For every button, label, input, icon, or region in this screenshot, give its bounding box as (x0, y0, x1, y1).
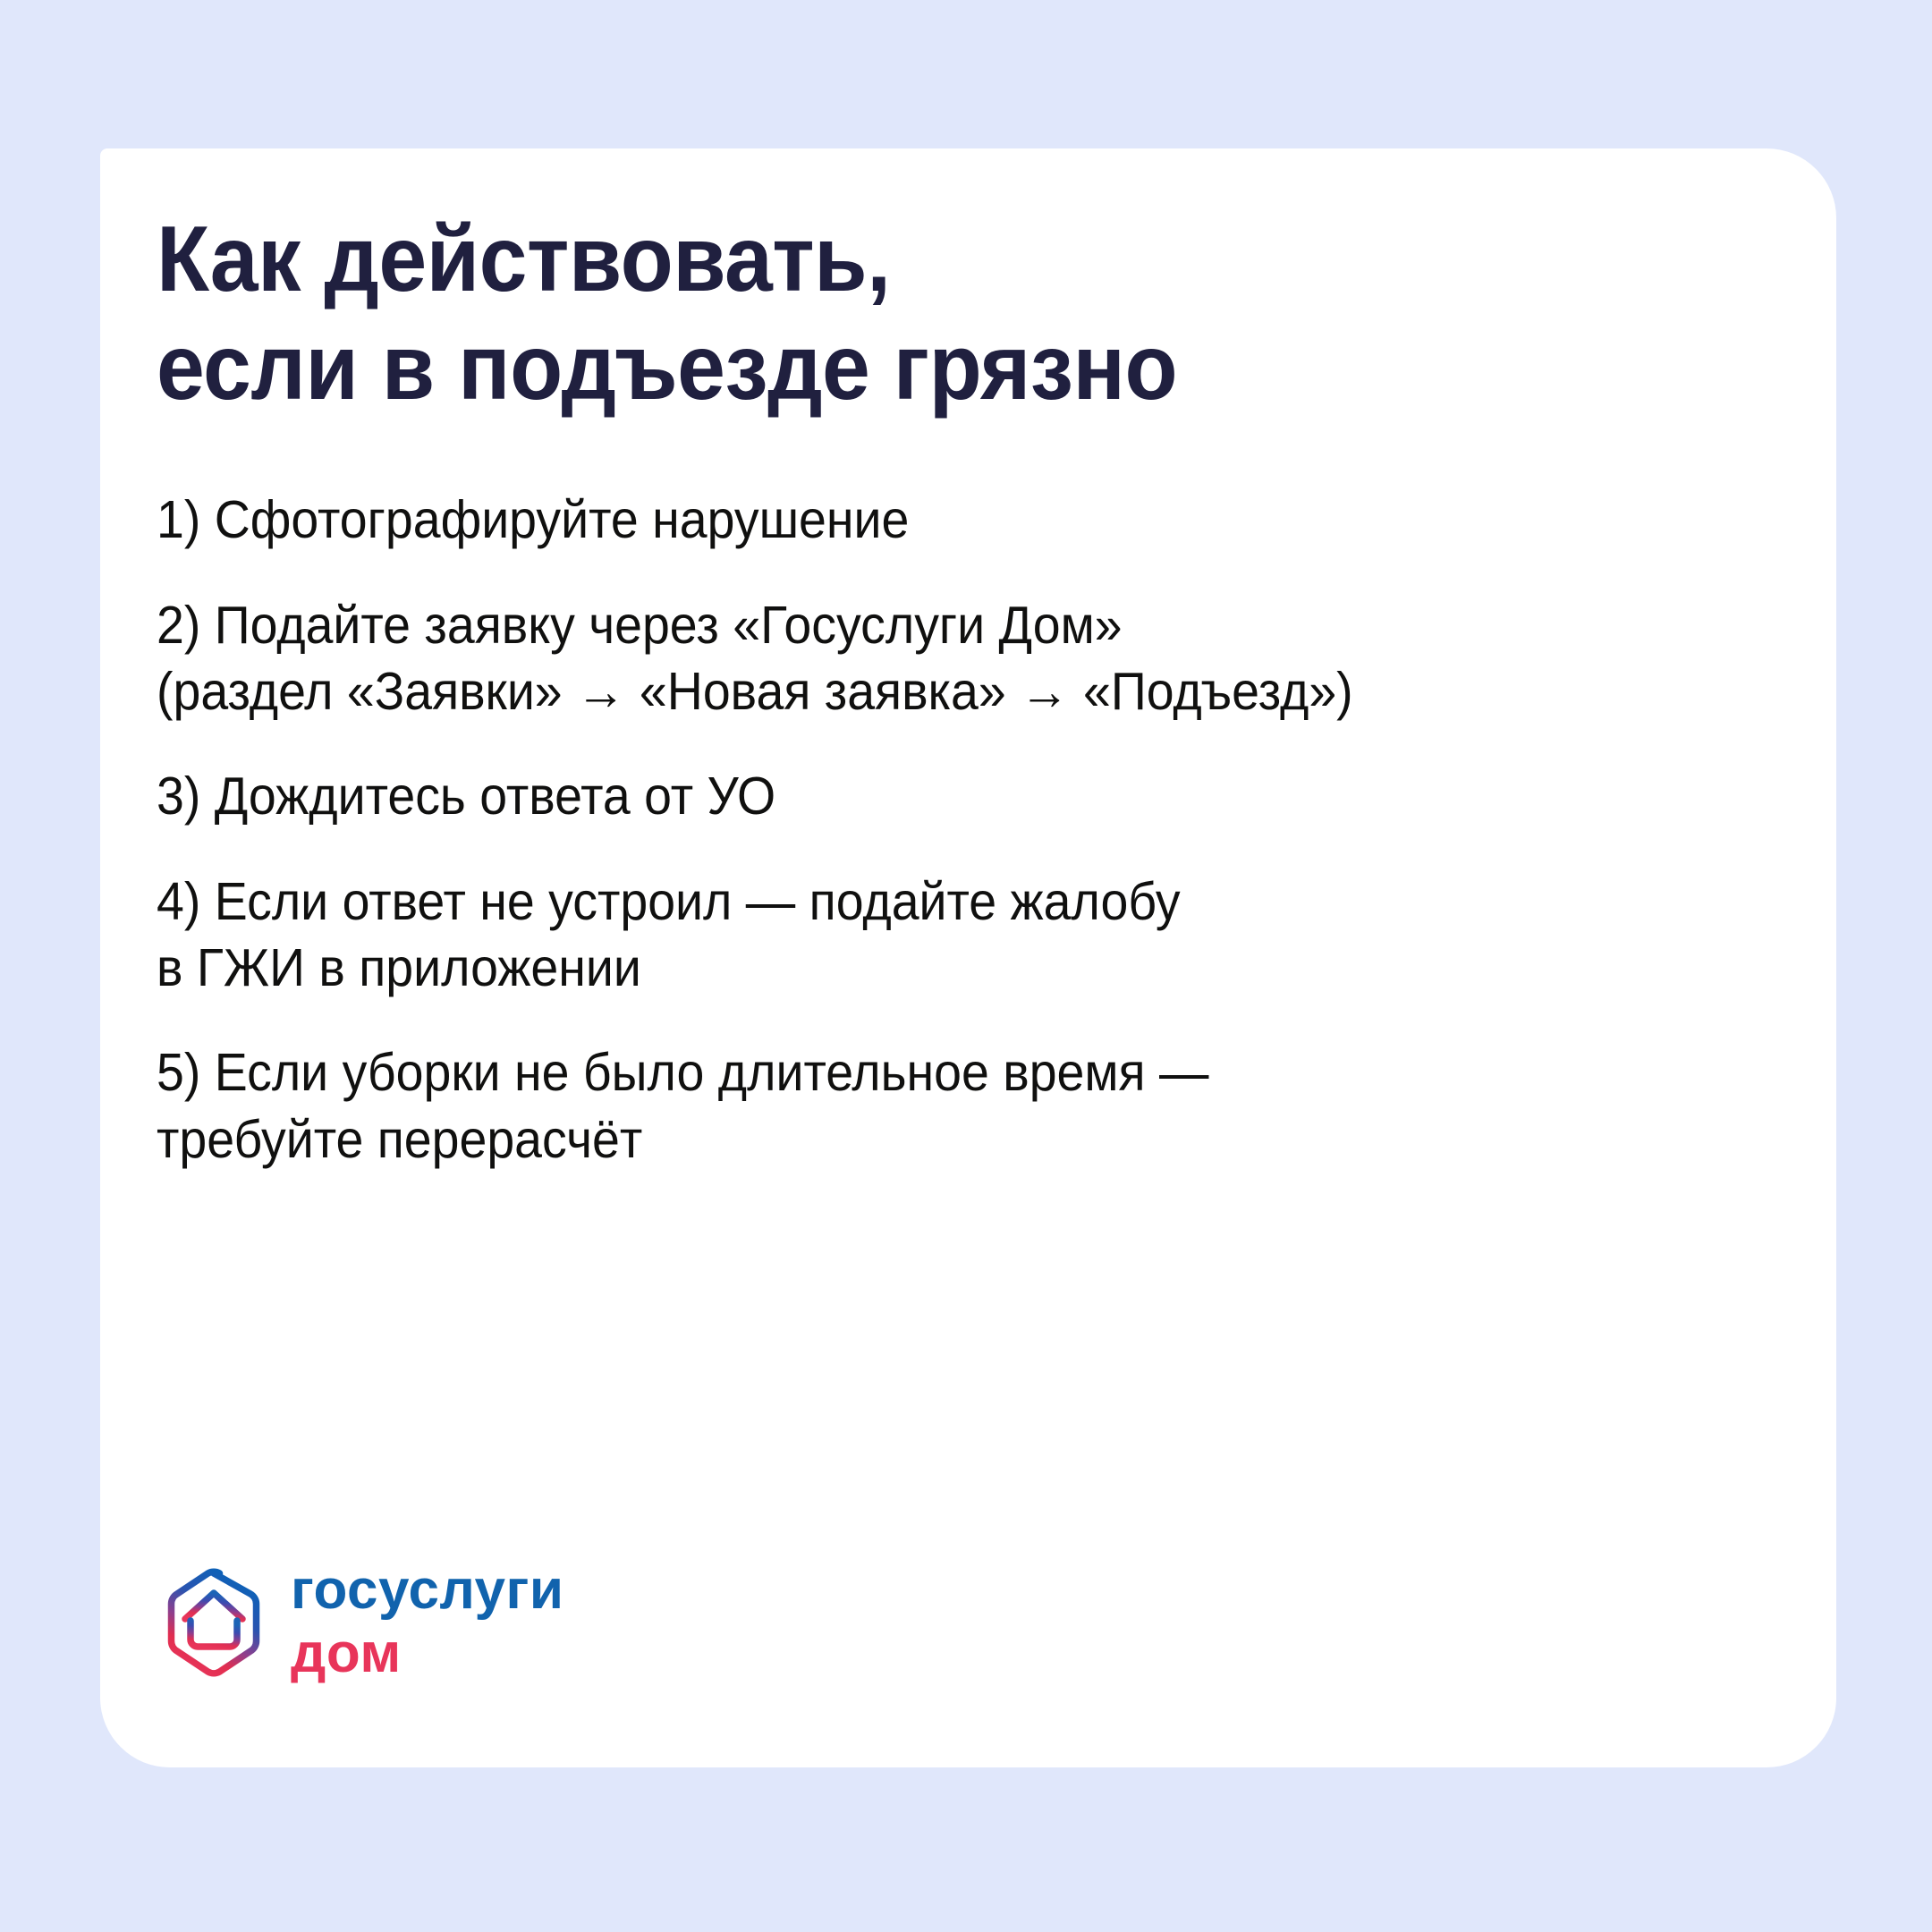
step-2-line-2: (раздел «Заявки» → «Новая заявка» → «Под… (157, 658, 1685, 724)
step-3-line-1: 3) Дождитесь ответа от УО (157, 763, 1685, 829)
step-item-1: 1) Сфотографируйте нарушение (157, 487, 1685, 553)
page-title-line-1: Как действовать, (157, 206, 1669, 314)
step-4-line-2: в ГЖИ в приложении (157, 935, 1685, 1001)
page-title-line-2: если в подъезде грязно (157, 314, 1669, 422)
step-item-5: 5) Если уборки не было длительное время … (157, 1039, 1685, 1173)
gosuslugi-dom-hexagon-house-icon (157, 1565, 271, 1680)
brand-logo-wordmark: госуслуги дом (291, 1563, 563, 1682)
brand-logo-word-gosuslugi: госуслуги (291, 1563, 563, 1618)
step-item-4: 4) Если ответ не устроил — подайте жалоб… (157, 869, 1685, 1002)
step-item-3: 3) Дождитесь ответа от УО (157, 763, 1685, 829)
poster-canvas: Как действовать, если в подъезде грязно … (0, 0, 1932, 1932)
brand-logo-word-dom: дом (291, 1625, 563, 1682)
card-content: Как действовать, если в подъезде грязно … (157, 206, 1783, 1732)
step-5-line-1: 5) Если уборки не было длительное время … (157, 1039, 1685, 1106)
step-4-line-1: 4) Если ответ не устроил — подайте жалоб… (157, 869, 1685, 935)
content-card: Как действовать, если в подъезде грязно … (100, 148, 1836, 1767)
step-item-2: 2) Подайте заявку через «Госуслуги Дом» … (157, 592, 1685, 725)
step-2-line-1: 2) Подайте заявку через «Госуслуги Дом» (157, 592, 1685, 658)
step-1-line-1: 1) Сфотографируйте нарушение (157, 487, 1685, 553)
page-title: Как действовать, если в подъезде грязно (157, 206, 1669, 421)
brand-logo: госуслуги дом (157, 1563, 563, 1682)
step-5-line-2: требуйте перерасчёт (157, 1106, 1685, 1173)
steps-list: 1) Сфотографируйте нарушение 2) Подайте … (157, 487, 1783, 1173)
